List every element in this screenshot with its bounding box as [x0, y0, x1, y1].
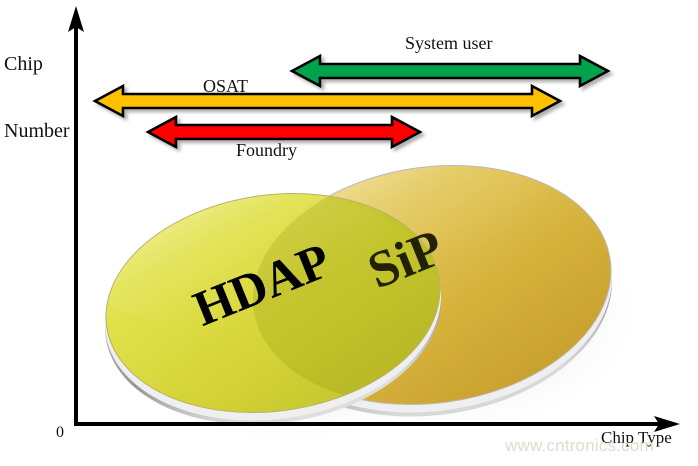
watermark-text: www.cntronics.com	[505, 436, 654, 456]
arrow-label-osat: OSAT	[203, 76, 248, 97]
range-arrows-layer	[0, 0, 698, 466]
origin-label: 0	[56, 424, 64, 442]
y-axis-label: Chip Number	[4, 8, 70, 187]
arrow-label-foundry: Foundry	[236, 140, 297, 161]
diagram-canvas: SiP HDAP	[0, 0, 698, 466]
y-axis-label-line1: Chip	[4, 53, 70, 75]
y-axis-label-line2: Number	[4, 120, 70, 142]
arrow-system-user[interactable]	[292, 56, 608, 86]
arrow-osat[interactable]	[95, 86, 560, 116]
arrow-label-system-user: System user	[405, 33, 493, 54]
